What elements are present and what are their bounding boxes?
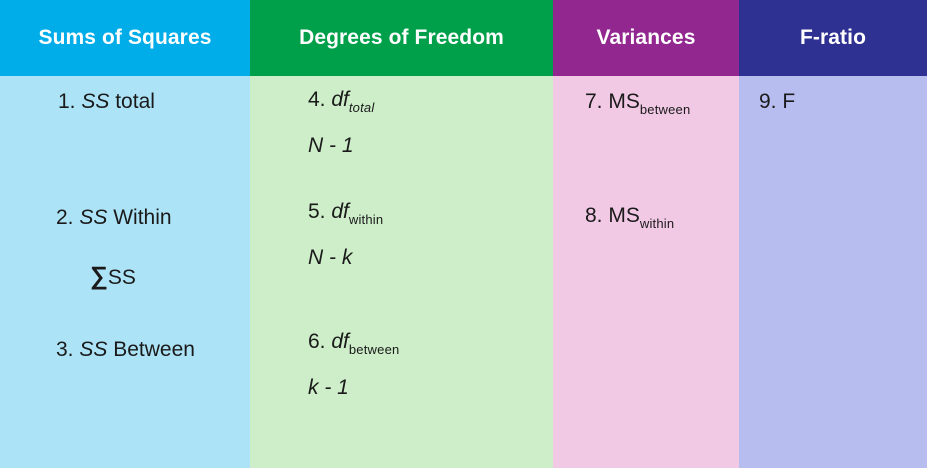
entry-ms-between: 7. MSbetween [585,90,690,115]
cell-f-ratio: 9. F [739,76,927,468]
formula-variable: k [308,376,319,399]
entry-df-between: 6. dfbetween [308,330,399,355]
entry-number: 6. [308,330,326,353]
entry-subscript: within [640,216,674,231]
cell-variances: 7. MSbetween 8. MSwithin [553,76,739,468]
entry-number: 3. [56,338,74,361]
entry-f: 9. F [759,90,795,115]
entry-term: SS [108,266,136,289]
entry-term: df [331,330,349,353]
entry-term: MS [608,90,640,113]
entry-number: 7. [585,90,603,113]
formula-variable-2: k [342,246,353,269]
entry-number: 1. [58,90,76,113]
entry-ms-within: 8. MSwithin [585,204,674,229]
formula-variable: N [308,246,323,269]
table-header-row: Sums of Squares Degrees of Freedom Varia… [0,0,927,76]
entry-number: 9. [759,90,777,113]
entry-subscript: within [349,212,383,227]
column-header-sums-of-squares: Sums of Squares [0,0,250,76]
column-header-variances: Variances [553,0,739,76]
entry-df-total-formula: N - 1 [308,134,354,159]
entry-df-total: 4. dftotal [308,88,374,113]
entry-number: 5. [308,200,326,223]
entry-sum-of-ss: ∑SS [90,262,136,292]
entry-df-within-formula: N - k [308,246,352,271]
cell-degrees-of-freedom: 4. dftotal N - 1 5. dfwithin N [250,76,553,468]
anova-summary-table: Sums of Squares Degrees of Freedom Varia… [0,0,927,468]
entry-ss-total: 1. SS total [58,90,155,115]
entry-term: SS [79,206,107,229]
entry-term: df [331,200,349,223]
formula-operator: - [329,246,336,269]
entry-subscript: total [349,100,375,115]
entry-df-within: 5. dfwithin [308,200,383,225]
anova-table: Sums of Squares Degrees of Freedom Varia… [0,0,927,468]
entry-number: 2. [56,206,74,229]
entry-ss-within: 2. SS Within [56,206,172,231]
entry-number: 4. [308,88,326,111]
entry-term: df [331,88,349,111]
entry-df-between-formula: k - 1 [308,376,349,401]
entry-suffix: total [115,90,155,113]
entry-suffix: Between [113,338,195,361]
entry-term: F [782,90,795,113]
entry-term: SS [81,90,109,113]
formula-variable: N [308,134,323,157]
entry-suffix: Within [113,206,171,229]
entry-term: MS [608,204,640,227]
formula-operator: - 1 [329,134,354,157]
sigma-symbol: ∑ [90,262,108,290]
formula-operator: - 1 [324,376,349,399]
entry-number: 8. [585,204,603,227]
table-body-row: 1. SS total 2. SS Within ∑SS [0,76,927,468]
entry-term: SS [79,338,107,361]
column-header-f-ratio: F-ratio [739,0,927,76]
entry-subscript: between [640,102,691,117]
cell-sums-of-squares: 1. SS total 2. SS Within ∑SS [0,76,250,468]
column-header-degrees-of-freedom: Degrees of Freedom [250,0,553,76]
entry-ss-between: 3. SS Between [56,338,195,363]
entry-subscript: between [349,342,400,357]
